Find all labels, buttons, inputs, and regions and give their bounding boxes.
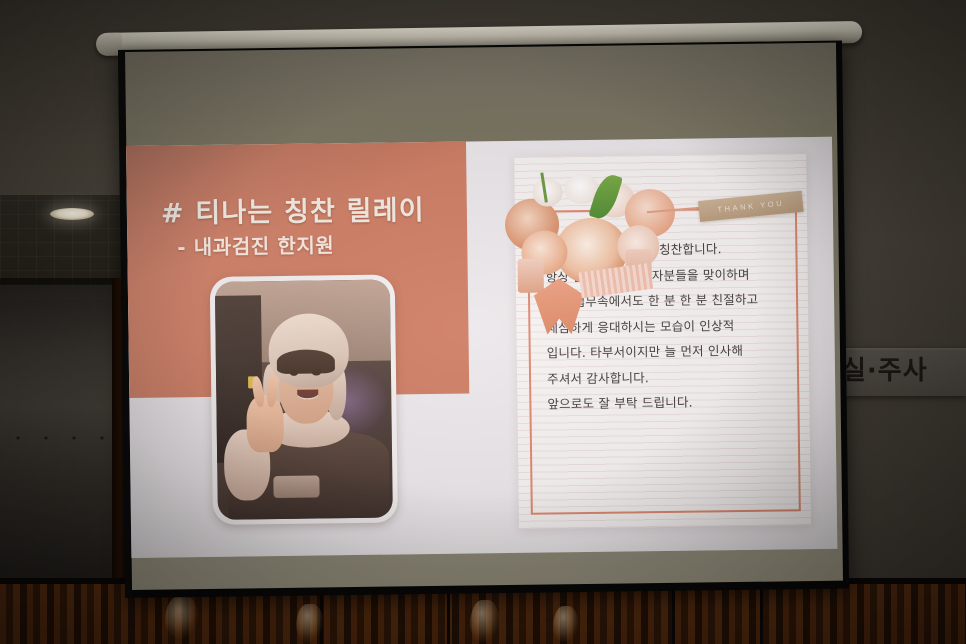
glass-object xyxy=(296,604,324,642)
glass-object xyxy=(553,606,579,642)
flower-bouquet-decoration xyxy=(498,166,710,359)
glass-object xyxy=(470,600,500,642)
ceiling-light-icon xyxy=(50,208,94,220)
slide-title: # 티나는 칭찬 릴레이 xyxy=(161,188,461,231)
portrait-photo-frame xyxy=(210,274,398,524)
cabinet-mullion xyxy=(760,584,763,644)
ribbon-wrap xyxy=(518,259,544,293)
flower-white-small xyxy=(532,178,562,206)
wall-sign-text: 실·주사 xyxy=(842,352,966,390)
letter-line: 앞으로도 잘 부탁 드립니다. xyxy=(547,388,799,417)
photo-warm-overlay xyxy=(215,280,393,520)
letter-line: 주셔서 감사합니다. xyxy=(547,363,799,392)
glass-object xyxy=(165,596,199,638)
cabinet-mullion xyxy=(672,584,675,644)
portrait-photo xyxy=(215,280,393,520)
photograph-of-room-with-projector-screen: 실·주사 # 티나는 칭찬 릴레이 - 내과검진 한지원 xyxy=(0,0,966,644)
slide-subtitle: - 내과검진 한지원 xyxy=(177,228,467,261)
projected-slide: # 티나는 칭찬 릴레이 - 내과검진 한지원 xyxy=(126,137,837,558)
